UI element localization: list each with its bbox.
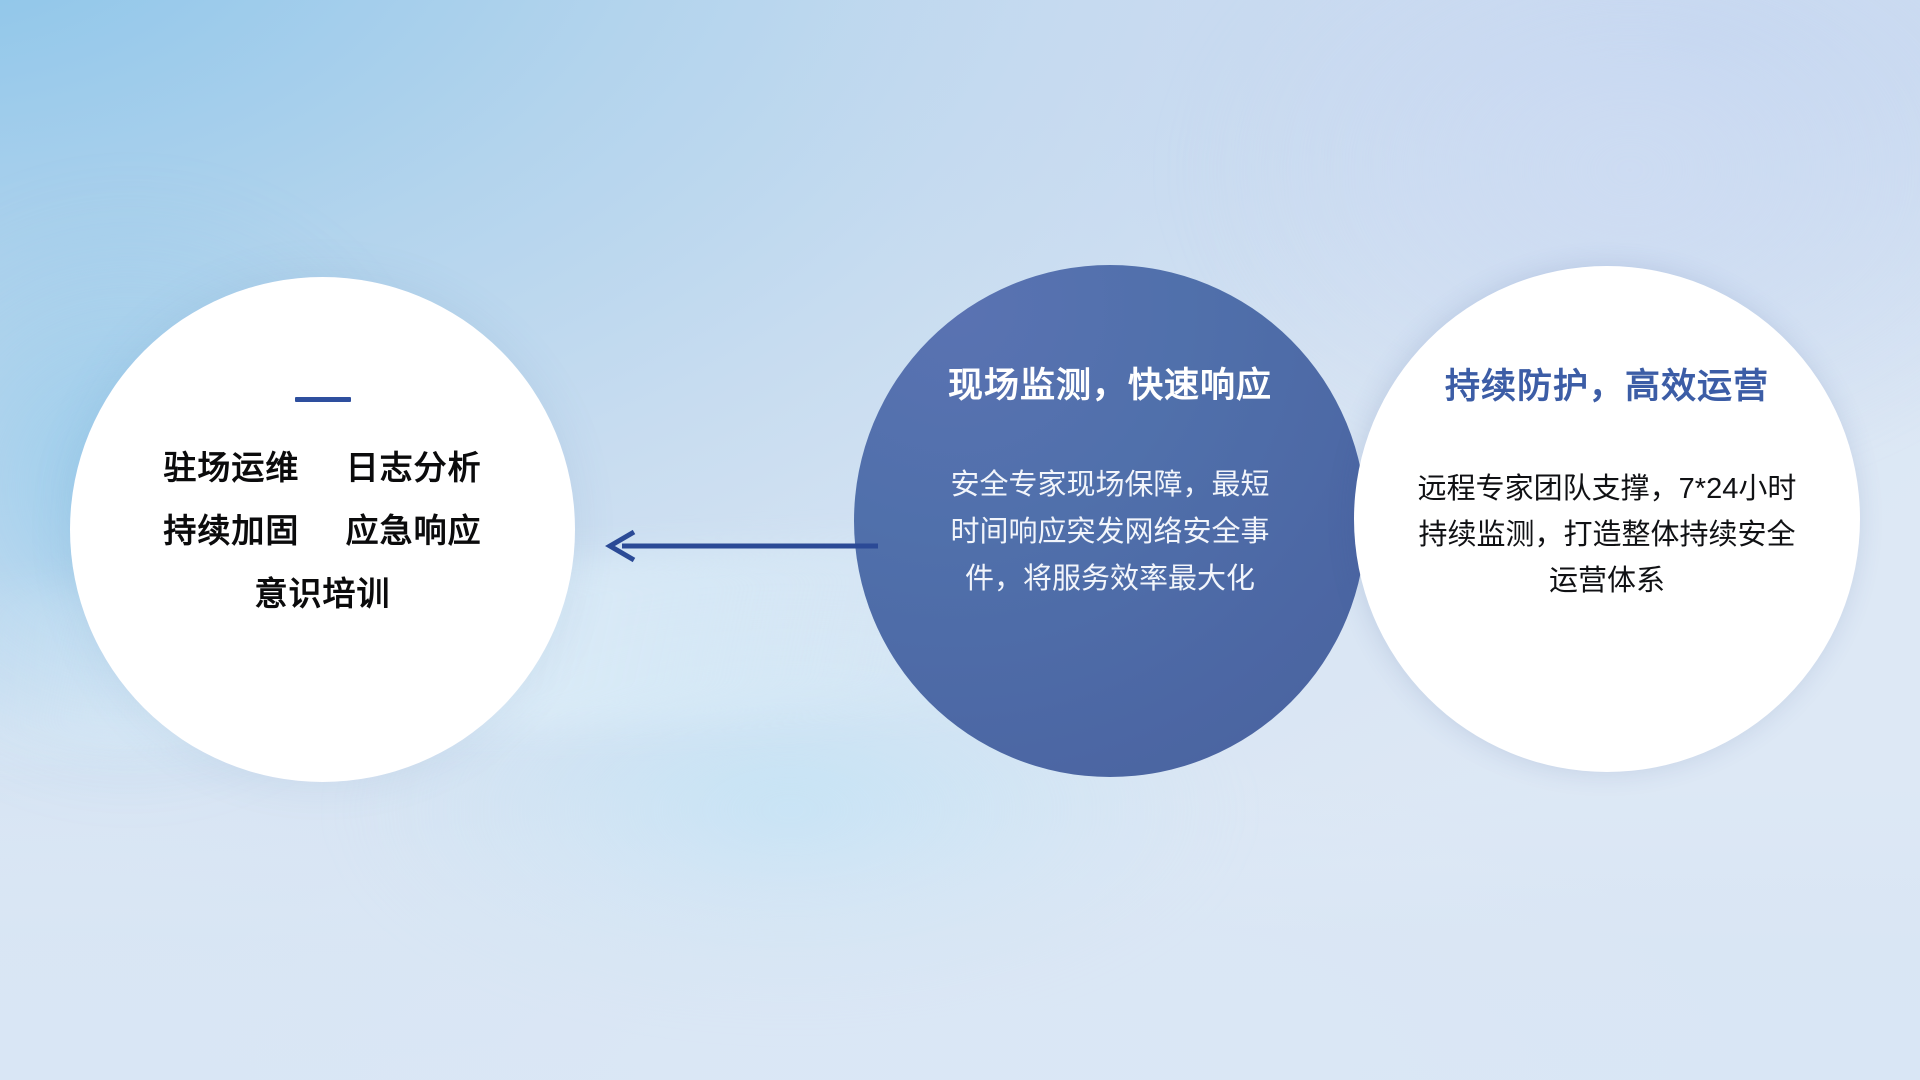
slide-canvas: 驻场运维 日志分析 持续加固 应急响应 意识培训 现场监测，快速响应 安全专家现… xyxy=(0,0,1920,1080)
capabilities-content: 驻场运维 日志分析 持续加固 应急响应 意识培训 xyxy=(70,277,575,782)
keyword-item: 持续加固 xyxy=(163,512,299,549)
keyword-row: 持续加固 应急响应 xyxy=(163,513,481,550)
continuous-protection-title: 持续防护，高效运营 xyxy=(1445,358,1769,409)
onsite-monitoring-body: 安全专家现场保障，最短时间响应突发网络安全事件，将服务效率最大化 xyxy=(945,462,1275,603)
onsite-monitoring-content: 现场监测，快速响应 安全专家现场保障，最短时间响应突发网络安全事件，将服务效率最… xyxy=(854,265,1366,777)
onsite-monitoring-title: 现场监测，快速响应 xyxy=(948,357,1272,408)
keyword-item: 意识培训 xyxy=(255,575,391,612)
continuous-protection-content: 持续防护，高效运营 远程专家团队支撑，7*24小时持续监测，打造整体持续安全运营… xyxy=(1354,266,1860,772)
blue-dash-divider xyxy=(295,397,351,402)
keyword-row: 驻场运维 日志分析 xyxy=(163,450,481,487)
arrow-left-icon xyxy=(600,520,880,572)
keyword-row: 意识培训 xyxy=(255,576,391,613)
keyword-item: 驻场运维 xyxy=(163,449,299,486)
background-bottom-fade xyxy=(0,780,1920,1080)
keyword-item: 日志分析 xyxy=(346,449,482,486)
keyword-item: 应急响应 xyxy=(346,512,482,549)
continuous-protection-body: 远程专家团队支撑，7*24小时持续监测，打造整体持续安全运营体系 xyxy=(1412,467,1802,604)
